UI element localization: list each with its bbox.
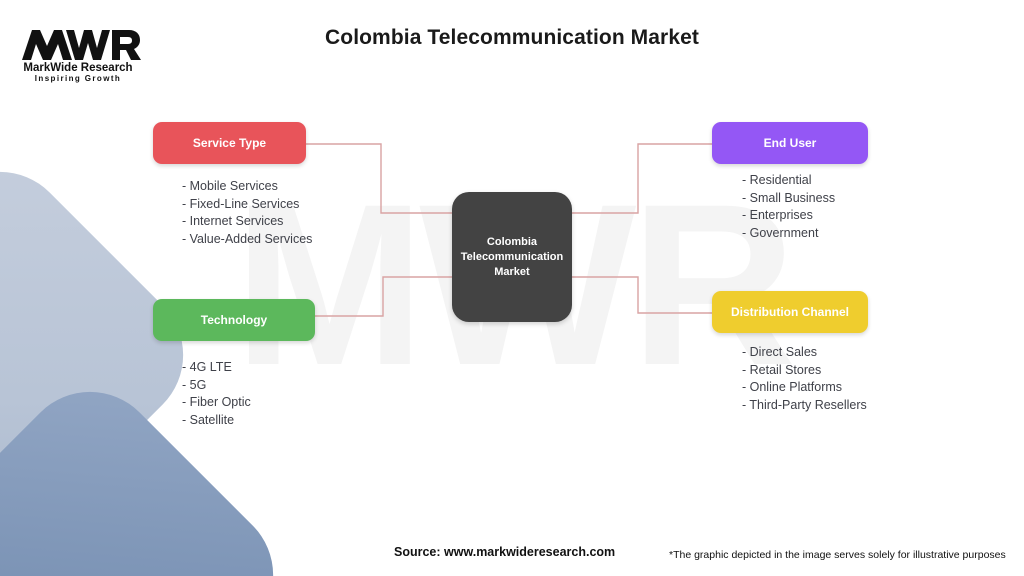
decorative-shape-light bbox=[0, 143, 212, 567]
list-item: - Internet Services bbox=[182, 213, 312, 231]
list-item: - Mobile Services bbox=[182, 178, 312, 196]
list-item: - Value-Added Services bbox=[182, 231, 312, 249]
branch-label-distribution-channel: Distribution Channel bbox=[731, 305, 849, 319]
branch-label-service-type: Service Type bbox=[193, 136, 266, 150]
branch-items-service-type: - Mobile Services - Fixed-Line Services … bbox=[182, 178, 312, 248]
list-item: - Third-Party Resellers bbox=[742, 397, 867, 415]
branch-pill-service-type[interactable]: Service Type bbox=[153, 122, 306, 164]
decorative-shape-dark bbox=[0, 363, 302, 576]
list-item: - Satellite bbox=[182, 412, 251, 430]
page-title: Colombia Telecommunication Market bbox=[0, 26, 1024, 50]
logo-company-name: MarkWide Research bbox=[23, 62, 132, 74]
branch-pill-end-user[interactable]: End User bbox=[712, 122, 868, 164]
list-item: - Enterprises bbox=[742, 207, 835, 225]
branch-label-end-user: End User bbox=[764, 136, 817, 150]
list-item: - Fixed-Line Services bbox=[182, 196, 312, 214]
branch-label-technology: Technology bbox=[201, 313, 267, 327]
source-label: Source: www.markwideresearch.com bbox=[394, 545, 615, 559]
logo-tagline: Inspiring Growth bbox=[35, 74, 121, 83]
list-item: - 5G bbox=[182, 377, 251, 395]
disclaimer-label: *The graphic depicted in the image serve… bbox=[669, 549, 1006, 561]
branch-items-end-user: - Residential - Small Business - Enterpr… bbox=[742, 172, 835, 242]
list-item: - Direct Sales bbox=[742, 344, 867, 362]
list-item: - Fiber Optic bbox=[182, 394, 251, 412]
list-item: - 4G LTE bbox=[182, 359, 251, 377]
list-item: - Government bbox=[742, 225, 835, 243]
list-item: - Residential bbox=[742, 172, 835, 190]
list-item: - Retail Stores bbox=[742, 362, 867, 380]
infographic-canvas: MWR MarkWide Research Inspiring Growth C… bbox=[0, 0, 1024, 576]
branch-items-distribution-channel: - Direct Sales - Retail Stores - Online … bbox=[742, 344, 867, 414]
branch-pill-distribution-channel[interactable]: Distribution Channel bbox=[712, 291, 868, 333]
center-node-label: Colombia Telecommunication Market bbox=[455, 235, 569, 280]
branch-items-technology: - 4G LTE - 5G - Fiber Optic - Satellite bbox=[182, 359, 251, 429]
center-node[interactable]: Colombia Telecommunication Market bbox=[452, 192, 572, 322]
branch-pill-technology[interactable]: Technology bbox=[153, 299, 315, 341]
list-item: - Online Platforms bbox=[742, 379, 867, 397]
list-item: - Small Business bbox=[742, 190, 835, 208]
